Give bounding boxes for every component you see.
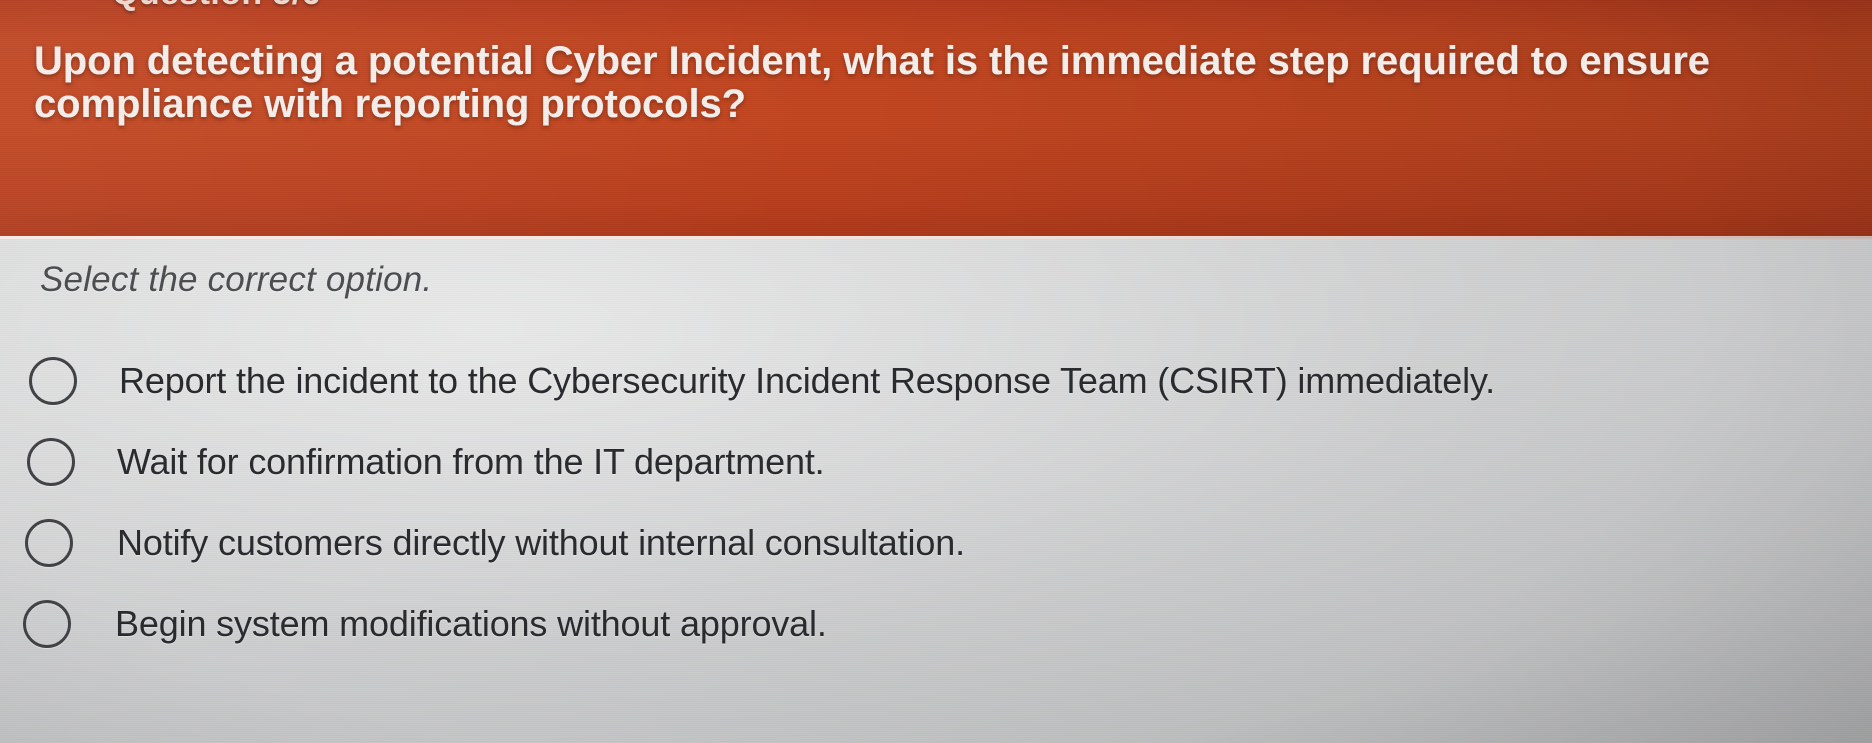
option-label-3[interactable]: Notify customers directly without intern… xyxy=(117,522,965,564)
question-header: Question 5/6 Upon detecting a potential … xyxy=(0,0,1872,236)
panel-top-edge xyxy=(0,236,1872,239)
option-row-1[interactable]: Report the incident to the Cybersecurity… xyxy=(0,340,1872,421)
options-list: Report the incident to the Cybersecurity… xyxy=(0,340,1872,664)
radio-button-icon-1[interactable] xyxy=(29,357,77,405)
option-label-4[interactable]: Begin system modifications without appro… xyxy=(115,603,827,645)
select-instruction: Select the correct option. xyxy=(40,260,432,300)
option-row-2[interactable]: Wait for confirmation from the IT depart… xyxy=(0,421,1872,502)
option-row-3[interactable]: Notify customers directly without intern… xyxy=(0,502,1872,583)
quiz-screen: Question 5/6 Upon detecting a potential … xyxy=(0,0,1872,743)
radio-button-icon-3[interactable] xyxy=(25,519,73,567)
radio-button-icon-4[interactable] xyxy=(23,600,71,648)
question-counter: Question 5/6 xyxy=(112,0,321,13)
option-row-4[interactable]: Begin system modifications without appro… xyxy=(0,583,1872,664)
question-prompt-text: Upon detecting a potential Cyber Inciden… xyxy=(34,40,1872,126)
answer-panel: Select the correct option. Report the in… xyxy=(0,236,1872,743)
option-label-2[interactable]: Wait for confirmation from the IT depart… xyxy=(117,441,825,483)
option-label-1[interactable]: Report the incident to the Cybersecurity… xyxy=(119,360,1495,402)
radio-button-icon-2[interactable] xyxy=(27,438,75,486)
